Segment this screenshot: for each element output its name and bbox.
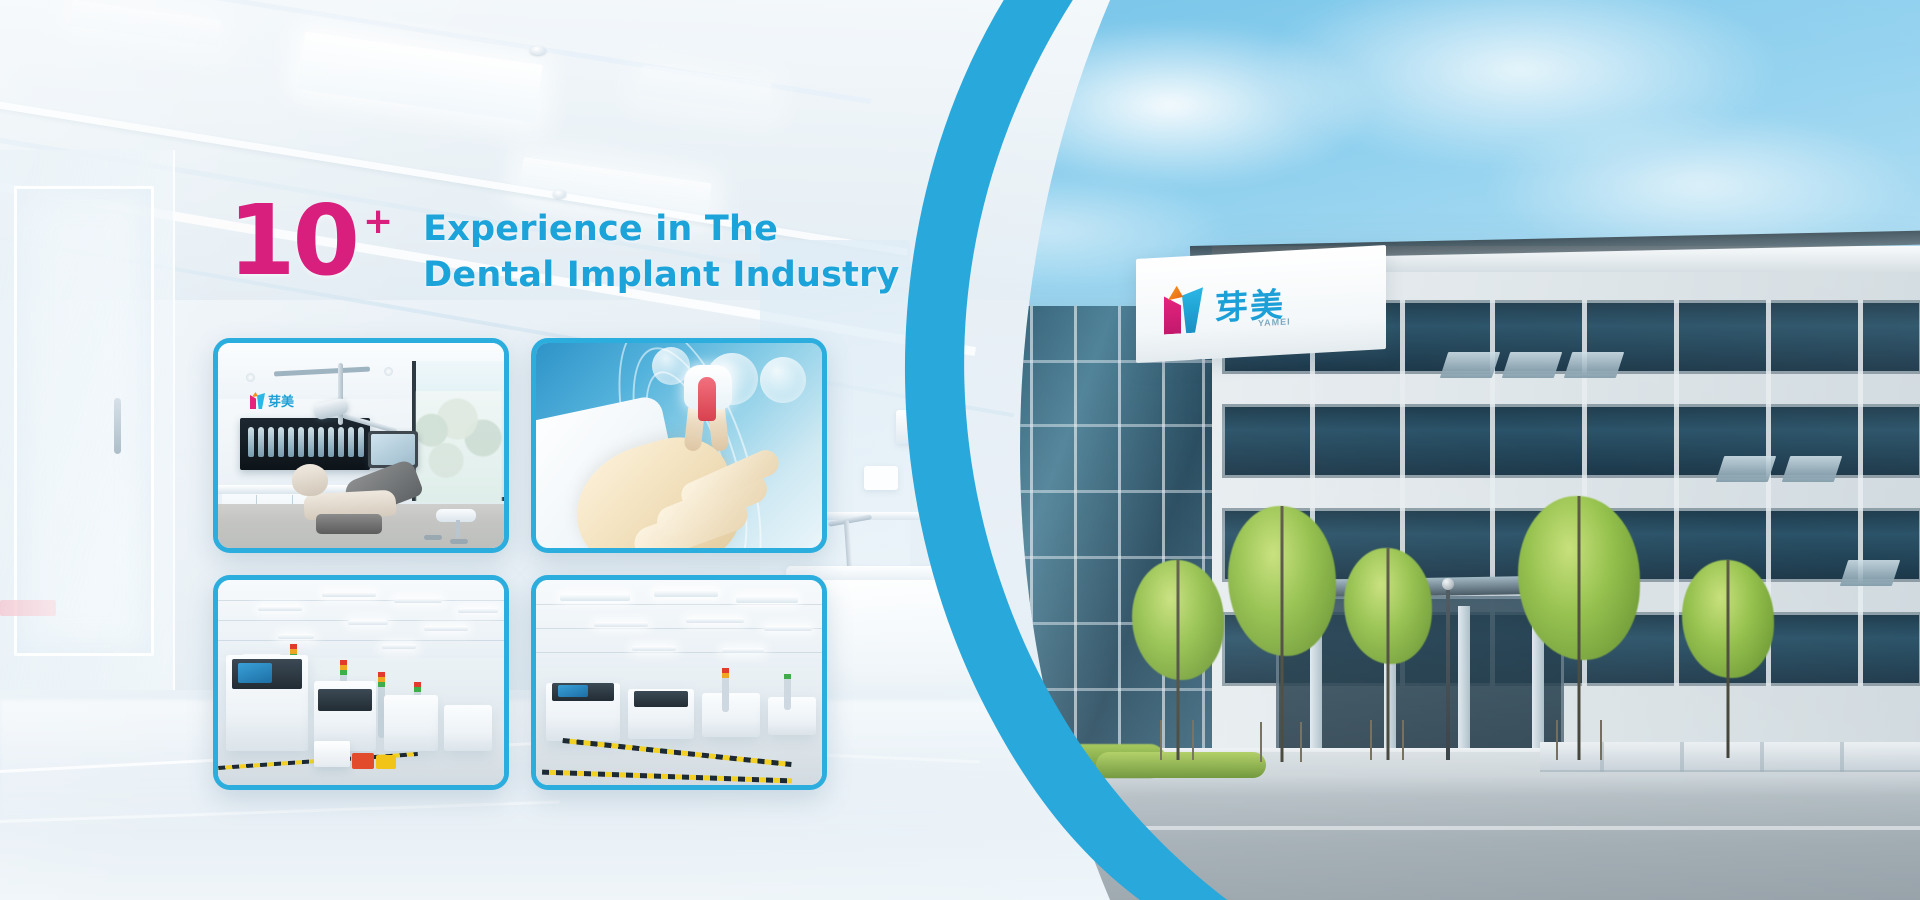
signal-tower: [784, 674, 791, 710]
tree-trunk: [1281, 506, 1284, 762]
tree-trunk: [1387, 548, 1390, 760]
wall-dispenser: [896, 410, 922, 444]
card-production-line[interactable]: 芽美: [213, 575, 509, 790]
window-awning: [1782, 456, 1842, 482]
tree: [1226, 506, 1338, 762]
stool-leg: [456, 520, 460, 538]
production-machine: [444, 705, 492, 751]
window-awning: [1716, 456, 1776, 482]
window-foliage: [416, 391, 502, 503]
machine-panel: [318, 689, 372, 711]
headline-line-1: Experience in The: [423, 209, 778, 249]
card-implant-hologram[interactable]: [531, 338, 827, 553]
tree: [1342, 548, 1434, 760]
ceiling-light-panel: [69, 0, 221, 46]
card-assembly-floor[interactable]: [531, 575, 827, 790]
photo-card-grid: 芽美: [213, 338, 827, 790]
tree: [1516, 496, 1642, 760]
brand-mark-icon: [1162, 284, 1206, 334]
card-image: [536, 343, 822, 548]
brand-mark-icon: [250, 392, 265, 409]
headline-text: Experience in The Dental Implant Industr…: [423, 207, 899, 298]
machine-panel: [634, 691, 688, 707]
material-cart: [314, 741, 350, 767]
fence-post: [1840, 742, 1844, 772]
ceiling-spotlight: [384, 367, 393, 376]
brand-name-cn: 芽美: [268, 391, 294, 410]
yellow-crate: [376, 755, 396, 769]
window-awning: [1840, 560, 1900, 586]
card-image: [536, 580, 822, 785]
mullion: [1118, 306, 1121, 768]
red-crate: [352, 753, 374, 769]
headline-block: 10 + Experience in The Dental Implant In…: [228, 198, 900, 298]
stool-caster: [450, 539, 468, 544]
tree-stake: [1600, 720, 1602, 760]
card-image: 芽美: [218, 580, 504, 785]
tree: [1130, 560, 1226, 760]
tree-stake: [1402, 720, 1404, 760]
tree-trunk: [1727, 560, 1730, 758]
transom: [990, 424, 1236, 427]
tree-stake: [1160, 720, 1162, 760]
wall-logo: 芽美: [250, 391, 294, 410]
machine-screen: [238, 663, 272, 683]
tree-trunk: [1177, 560, 1180, 760]
smoke-detector-icon: [530, 46, 546, 55]
hero-banner: 芽美 YAMEI: [0, 0, 1920, 900]
stool-caster: [424, 535, 442, 540]
street-lamp-head-icon: [1442, 578, 1454, 590]
window-awning: [1564, 352, 1624, 378]
tooth-model: [678, 365, 738, 451]
ceiling-spotlight: [246, 373, 255, 382]
production-machine: [384, 695, 438, 751]
building-logo: 芽美 YAMEI: [1162, 266, 1362, 343]
door-handle: [114, 398, 121, 454]
dental-chair-base: [316, 514, 382, 534]
smt-machine: [768, 697, 816, 735]
tree-stake: [1192, 720, 1194, 760]
dental-chair-headrest: [292, 464, 328, 496]
tree-stake: [1260, 722, 1262, 762]
smoke-detector-icon: [553, 190, 566, 198]
tree: [1680, 560, 1776, 758]
mullion: [1074, 306, 1077, 768]
window-awning: [1502, 352, 1562, 378]
transom: [990, 360, 1236, 363]
wall-accent-strip: [0, 600, 56, 616]
mullion: [1674, 300, 1679, 686]
card-image: 芽美: [218, 343, 504, 548]
card-clinic-operatory[interactable]: 芽美: [213, 338, 509, 553]
brand-name-latin: YAMEI: [1258, 316, 1291, 328]
tree-stake: [1370, 720, 1372, 760]
entrance-column: [1458, 606, 1470, 756]
transom: [990, 556, 1236, 559]
xray-lightbox: [240, 418, 370, 470]
street-lamp-post: [1446, 588, 1450, 760]
mullion: [1858, 300, 1863, 686]
transom: [990, 490, 1236, 493]
wall-panel: [864, 466, 898, 490]
exterior-window: [412, 361, 504, 501]
tree-stake: [1300, 722, 1302, 762]
headline-line-2: Dental Implant Industry: [423, 253, 899, 299]
years-number: 10: [228, 198, 357, 283]
tooth-pulp: [698, 377, 716, 421]
window-awning: [1440, 352, 1500, 378]
plus-sign: +: [363, 204, 393, 240]
machine-screen: [558, 685, 588, 697]
smt-machine: [702, 693, 760, 737]
bokeh-circle: [760, 357, 806, 403]
tree-trunk: [1578, 496, 1581, 760]
tree-stake: [1556, 720, 1558, 760]
glass-door: [14, 186, 154, 656]
